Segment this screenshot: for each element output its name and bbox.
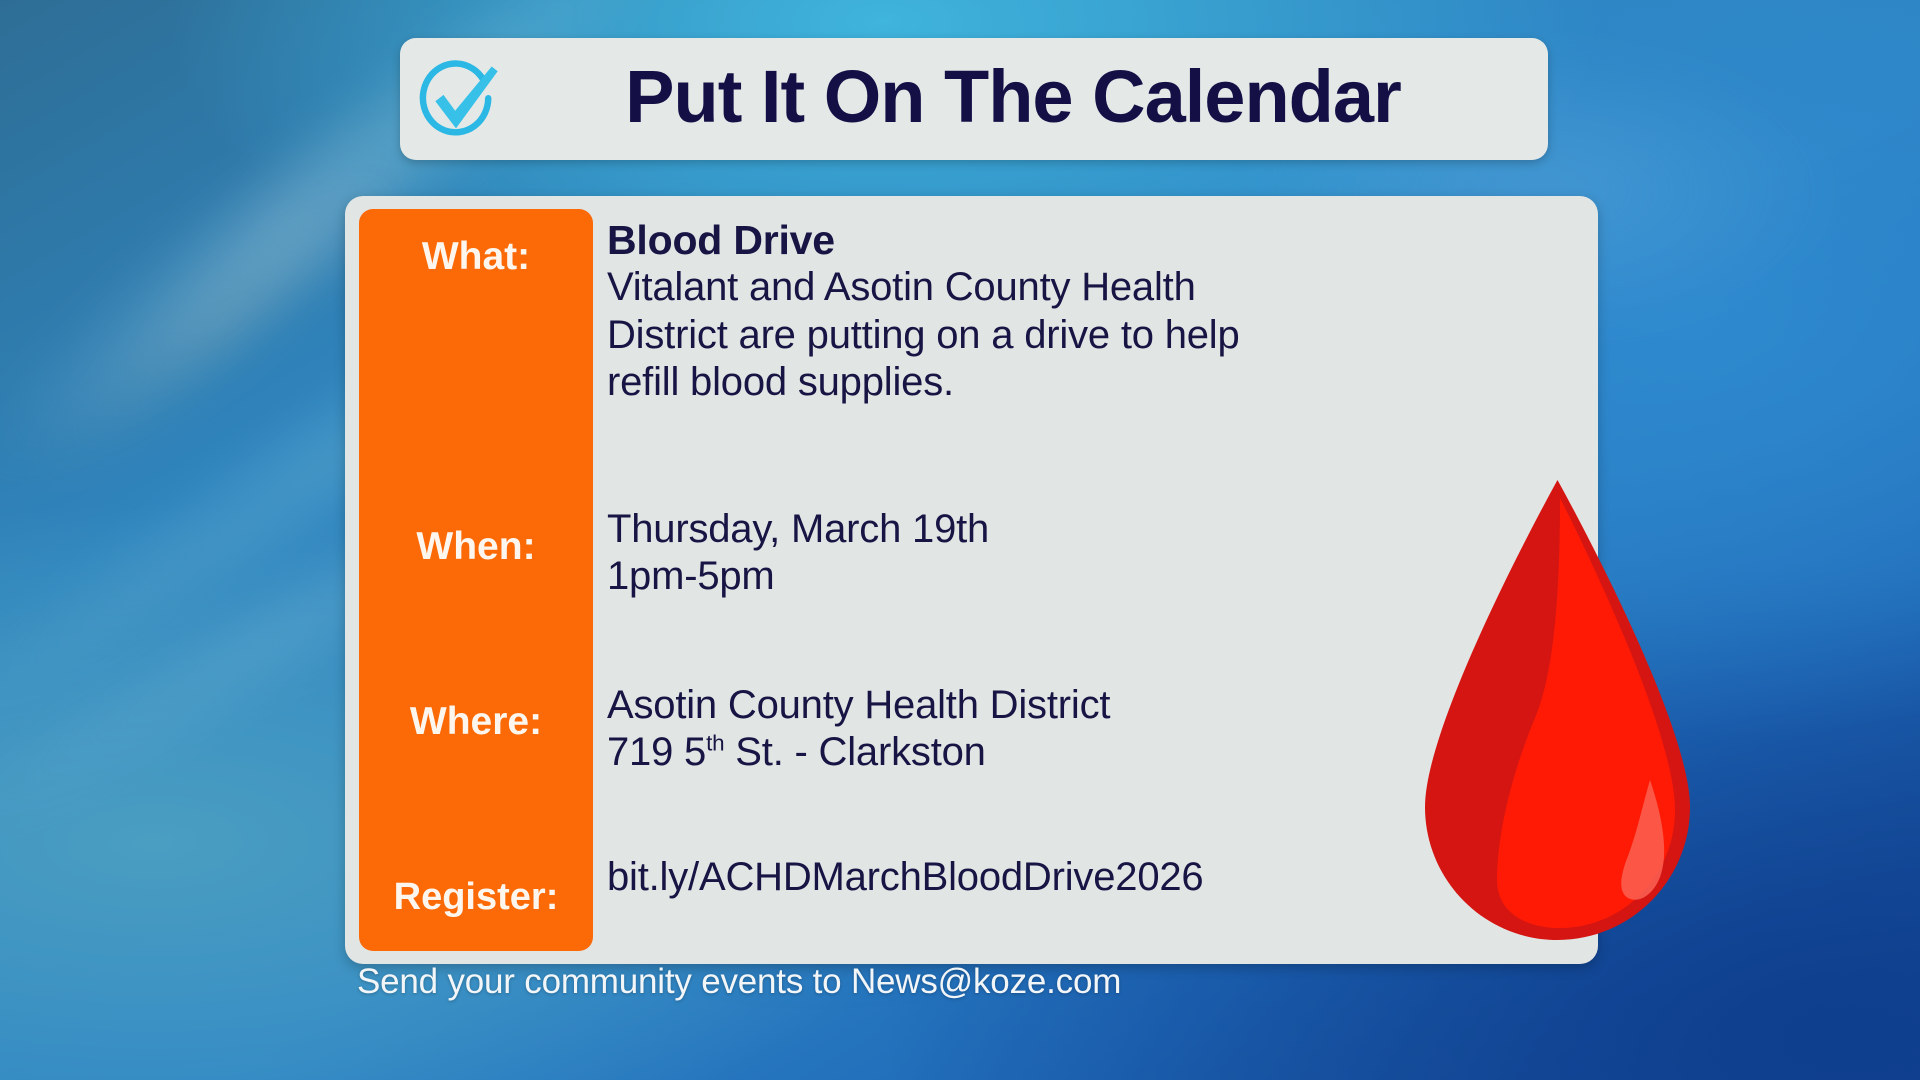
event-venue: Asotin County Health District (607, 682, 1507, 729)
blood-drop-icon (1425, 480, 1690, 940)
footer-note: Send your community events to News@koze.… (357, 962, 1121, 1002)
check-circle-icon (416, 57, 502, 143)
row-register: bit.ly/ACHDMarchBloodDrive2026 (607, 854, 1507, 901)
event-description-line-3: refill blood supplies. (607, 359, 1507, 406)
row-what: Blood Drive Vitalant and Asotin County H… (607, 216, 1507, 406)
event-address: 719 5th St. - Clarkston (607, 729, 1507, 776)
event-description-line-1: Vitalant and Asotin County Health (607, 264, 1507, 311)
row-where: Asotin County Health District 719 5th St… (607, 682, 1507, 776)
label-what: What: (359, 237, 593, 276)
event-date: Thursday, March 19th (607, 506, 1507, 553)
event-description-line-2: District are putting on a drive to help (607, 312, 1507, 359)
label-where: Where: (359, 702, 593, 741)
event-card: What: When: Where: Register: Blood Drive… (345, 196, 1598, 964)
label-when: When: (359, 527, 593, 566)
header-banner: Put It On The Calendar (400, 38, 1548, 160)
page-title: Put It On The Calendar (512, 60, 1548, 134)
registration-url[interactable]: bit.ly/ACHDMarchBloodDrive2026 (607, 854, 1507, 901)
event-name: Blood Drive (607, 216, 1507, 264)
address-number: 719 5 (607, 730, 706, 774)
row-when: Thursday, March 19th 1pm-5pm (607, 506, 1507, 600)
address-rest: St. - Clarkston (724, 730, 985, 774)
label-register: Register: (359, 878, 593, 916)
event-time: 1pm-5pm (607, 553, 1507, 600)
label-column: What: When: Where: Register: (359, 209, 593, 951)
address-ordinal-suffix: th (706, 731, 724, 756)
